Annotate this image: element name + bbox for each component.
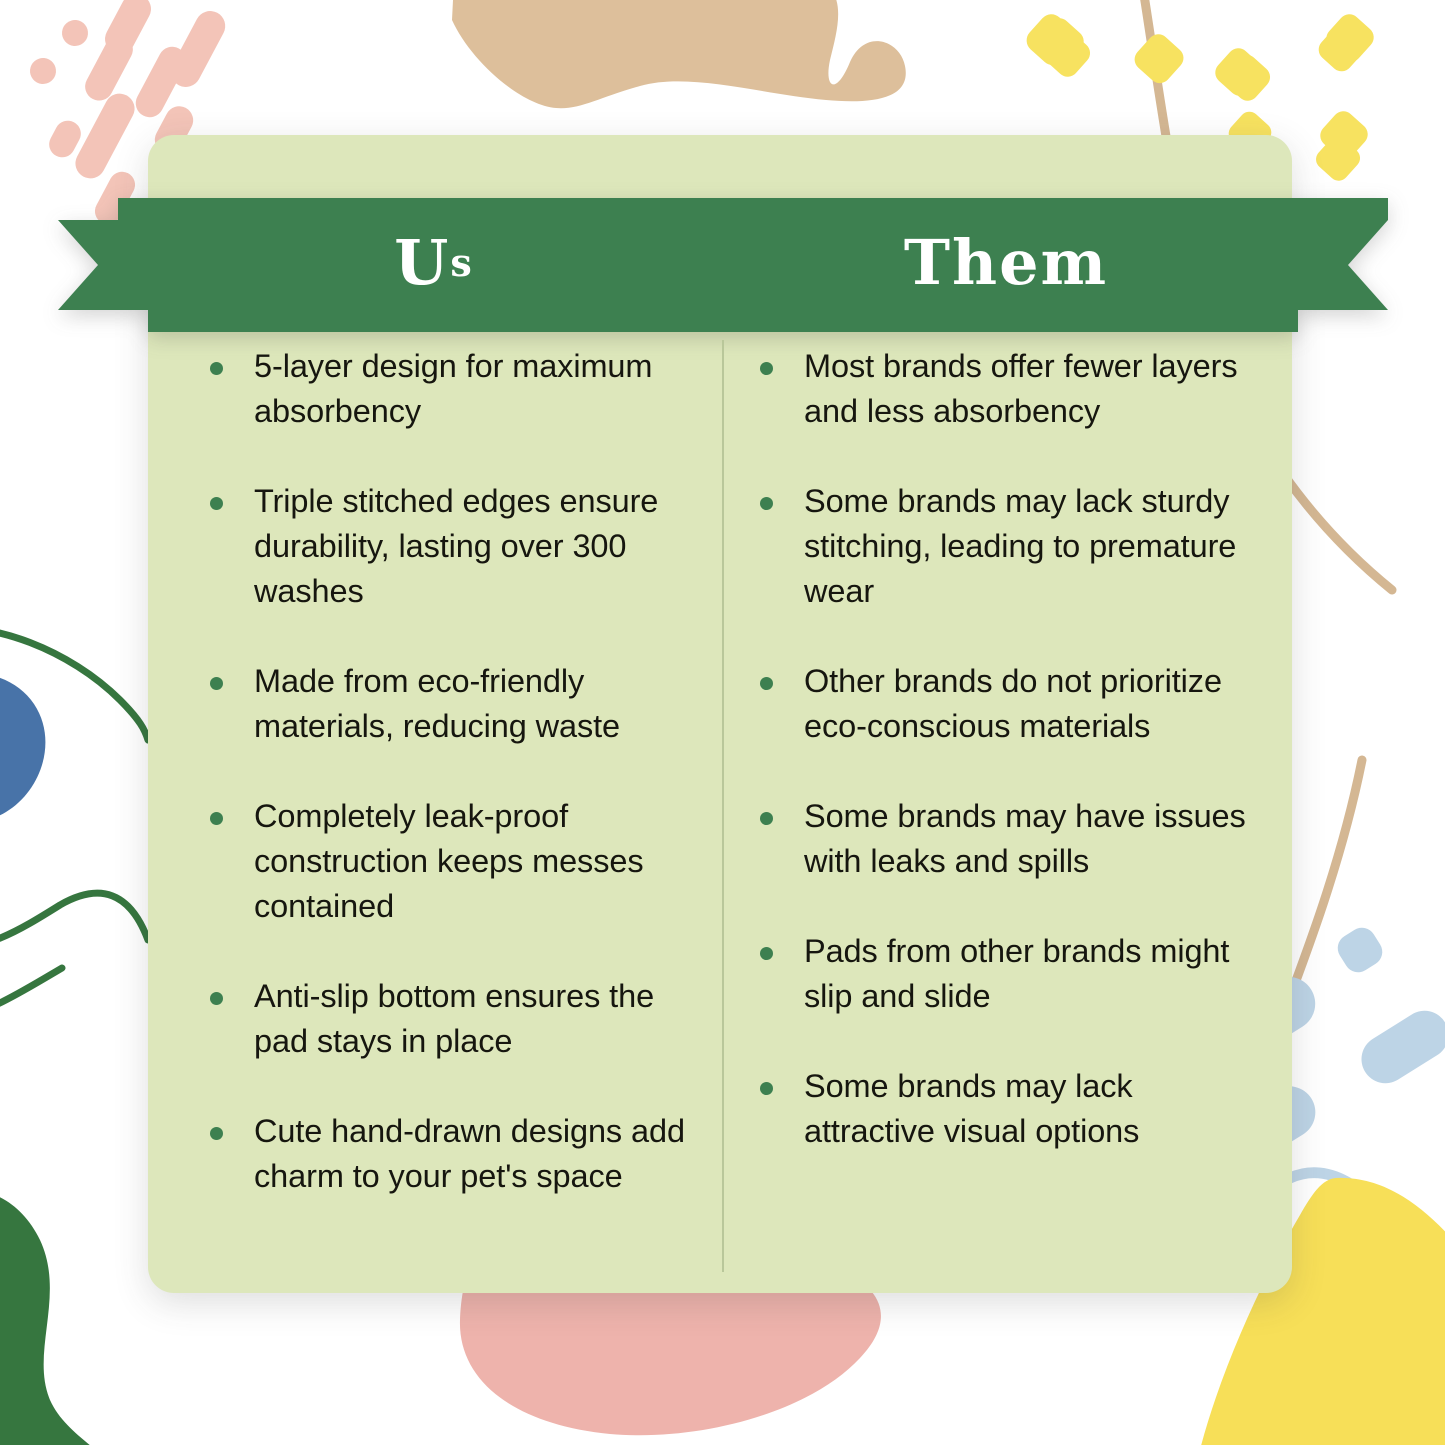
heading-us-tail: s bbox=[450, 244, 473, 282]
column-heading-them: Them bbox=[720, 198, 1292, 332]
bullet-dot-icon bbox=[210, 677, 223, 690]
bullet-dot-icon bbox=[760, 947, 773, 960]
ribbon-right-tail bbox=[1296, 220, 1388, 310]
column-heading-us: Us bbox=[148, 198, 720, 332]
list-item: Anti-slip bottom ensures the pad stays i… bbox=[208, 974, 688, 1064]
bullet-dot-icon bbox=[210, 992, 223, 1005]
infographic-canvas: Us Them 5-layer design for maximum absor… bbox=[0, 0, 1445, 1445]
bullet-dot-icon bbox=[210, 362, 223, 375]
list-item-text: Other brands do not prioritize eco-consc… bbox=[804, 663, 1222, 744]
list-item-text: Most brands offer fewer layers and less … bbox=[804, 348, 1238, 429]
list-item: Other brands do not prioritize eco-consc… bbox=[758, 659, 1262, 749]
bullet-dot-icon bbox=[210, 1127, 223, 1140]
bullet-dot-icon bbox=[210, 497, 223, 510]
comparison-columns: 5-layer design for maximum absorbency Tr… bbox=[148, 332, 1292, 1292]
list-item-text: Pads from other brands might slip and sl… bbox=[804, 933, 1229, 1014]
column-us: 5-layer design for maximum absorbency Tr… bbox=[148, 332, 722, 1292]
bullet-list-them: Most brands offer fewer layers and less … bbox=[758, 344, 1262, 1154]
green-curve-line bbox=[0, 628, 148, 1020]
list-item: Some brands may have issues with leaks a… bbox=[758, 794, 1262, 884]
ribbon-left-tail bbox=[58, 220, 150, 310]
bullet-dot-icon bbox=[760, 497, 773, 510]
list-item: Some brands may lack attractive visual o… bbox=[758, 1064, 1262, 1154]
bullet-list-us: 5-layer design for maximum absorbency Tr… bbox=[208, 344, 688, 1199]
list-item: Pads from other brands might slip and sl… bbox=[758, 929, 1262, 1019]
list-item: Cute hand-drawn designs add charm to you… bbox=[208, 1109, 688, 1199]
list-item-text: Some brands may lack attractive visual o… bbox=[804, 1068, 1139, 1149]
list-item-text: Some brands may lack sturdy stitching, l… bbox=[804, 483, 1236, 609]
green-blob-shape bbox=[0, 1189, 118, 1445]
bullet-dot-icon bbox=[210, 812, 223, 825]
blue-blob-shape bbox=[0, 673, 45, 822]
list-item-text: Cute hand-drawn designs add charm to you… bbox=[254, 1113, 685, 1194]
heading-us-lead: U bbox=[394, 232, 450, 294]
list-item: Some brands may lack sturdy stitching, l… bbox=[758, 479, 1262, 614]
list-item-text: Anti-slip bottom ensures the pad stays i… bbox=[254, 978, 654, 1059]
bullet-dot-icon bbox=[760, 677, 773, 690]
list-item: Triple stitched edges ensure durability,… bbox=[208, 479, 688, 614]
list-item: Completely leak-proof construction keeps… bbox=[208, 794, 688, 929]
tan-blob-shape bbox=[452, 0, 906, 108]
list-item-text: Completely leak-proof construction keeps… bbox=[254, 798, 643, 924]
ribbon-titles: Us Them bbox=[148, 198, 1292, 332]
list-item-text: Some brands may have issues with leaks a… bbox=[804, 798, 1246, 879]
list-item-text: Made from eco-friendly materials, reduci… bbox=[254, 663, 620, 744]
bullet-dot-icon bbox=[760, 1082, 773, 1095]
list-item-text: 5-layer design for maximum absorbency bbox=[254, 348, 652, 429]
bullet-dot-icon bbox=[760, 362, 773, 375]
column-them: Most brands offer fewer layers and less … bbox=[722, 332, 1292, 1292]
list-item: Most brands offer fewer layers and less … bbox=[758, 344, 1262, 434]
bullet-dot-icon bbox=[760, 812, 773, 825]
list-item: Made from eco-friendly materials, reduci… bbox=[208, 659, 688, 749]
list-item: 5-layer design for maximum absorbency bbox=[208, 344, 688, 434]
list-item-text: Triple stitched edges ensure durability,… bbox=[254, 483, 658, 609]
